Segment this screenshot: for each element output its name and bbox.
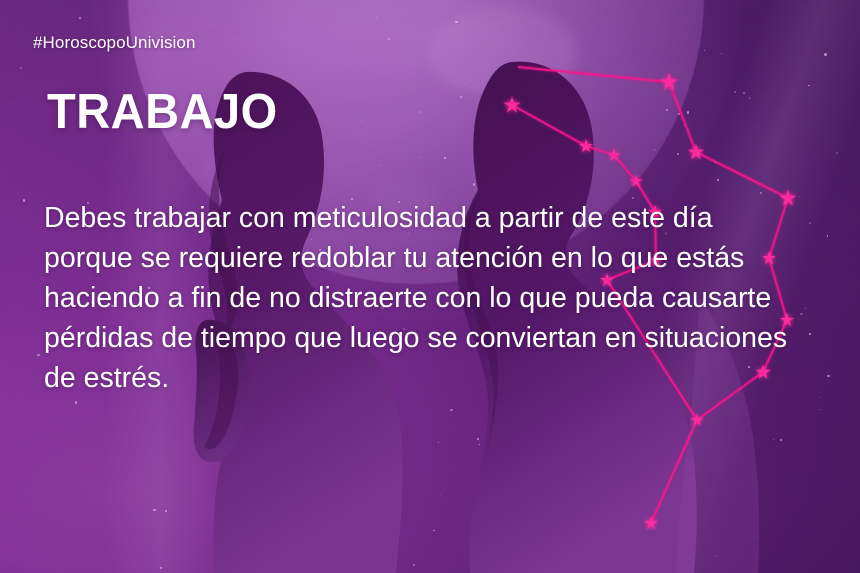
horoscope-body-text: Debes trabajar con meticulosidad a parti… [44,198,804,398]
horoscope-card: #HoroscopoUnivision TRABAJO Debes trabaj… [0,0,860,573]
page-title: TRABAJO [47,88,278,137]
text-content: #HoroscopoUnivision TRABAJO Debes trabaj… [0,0,860,573]
hashtag-label: #HoroscopoUnivision [33,33,196,53]
